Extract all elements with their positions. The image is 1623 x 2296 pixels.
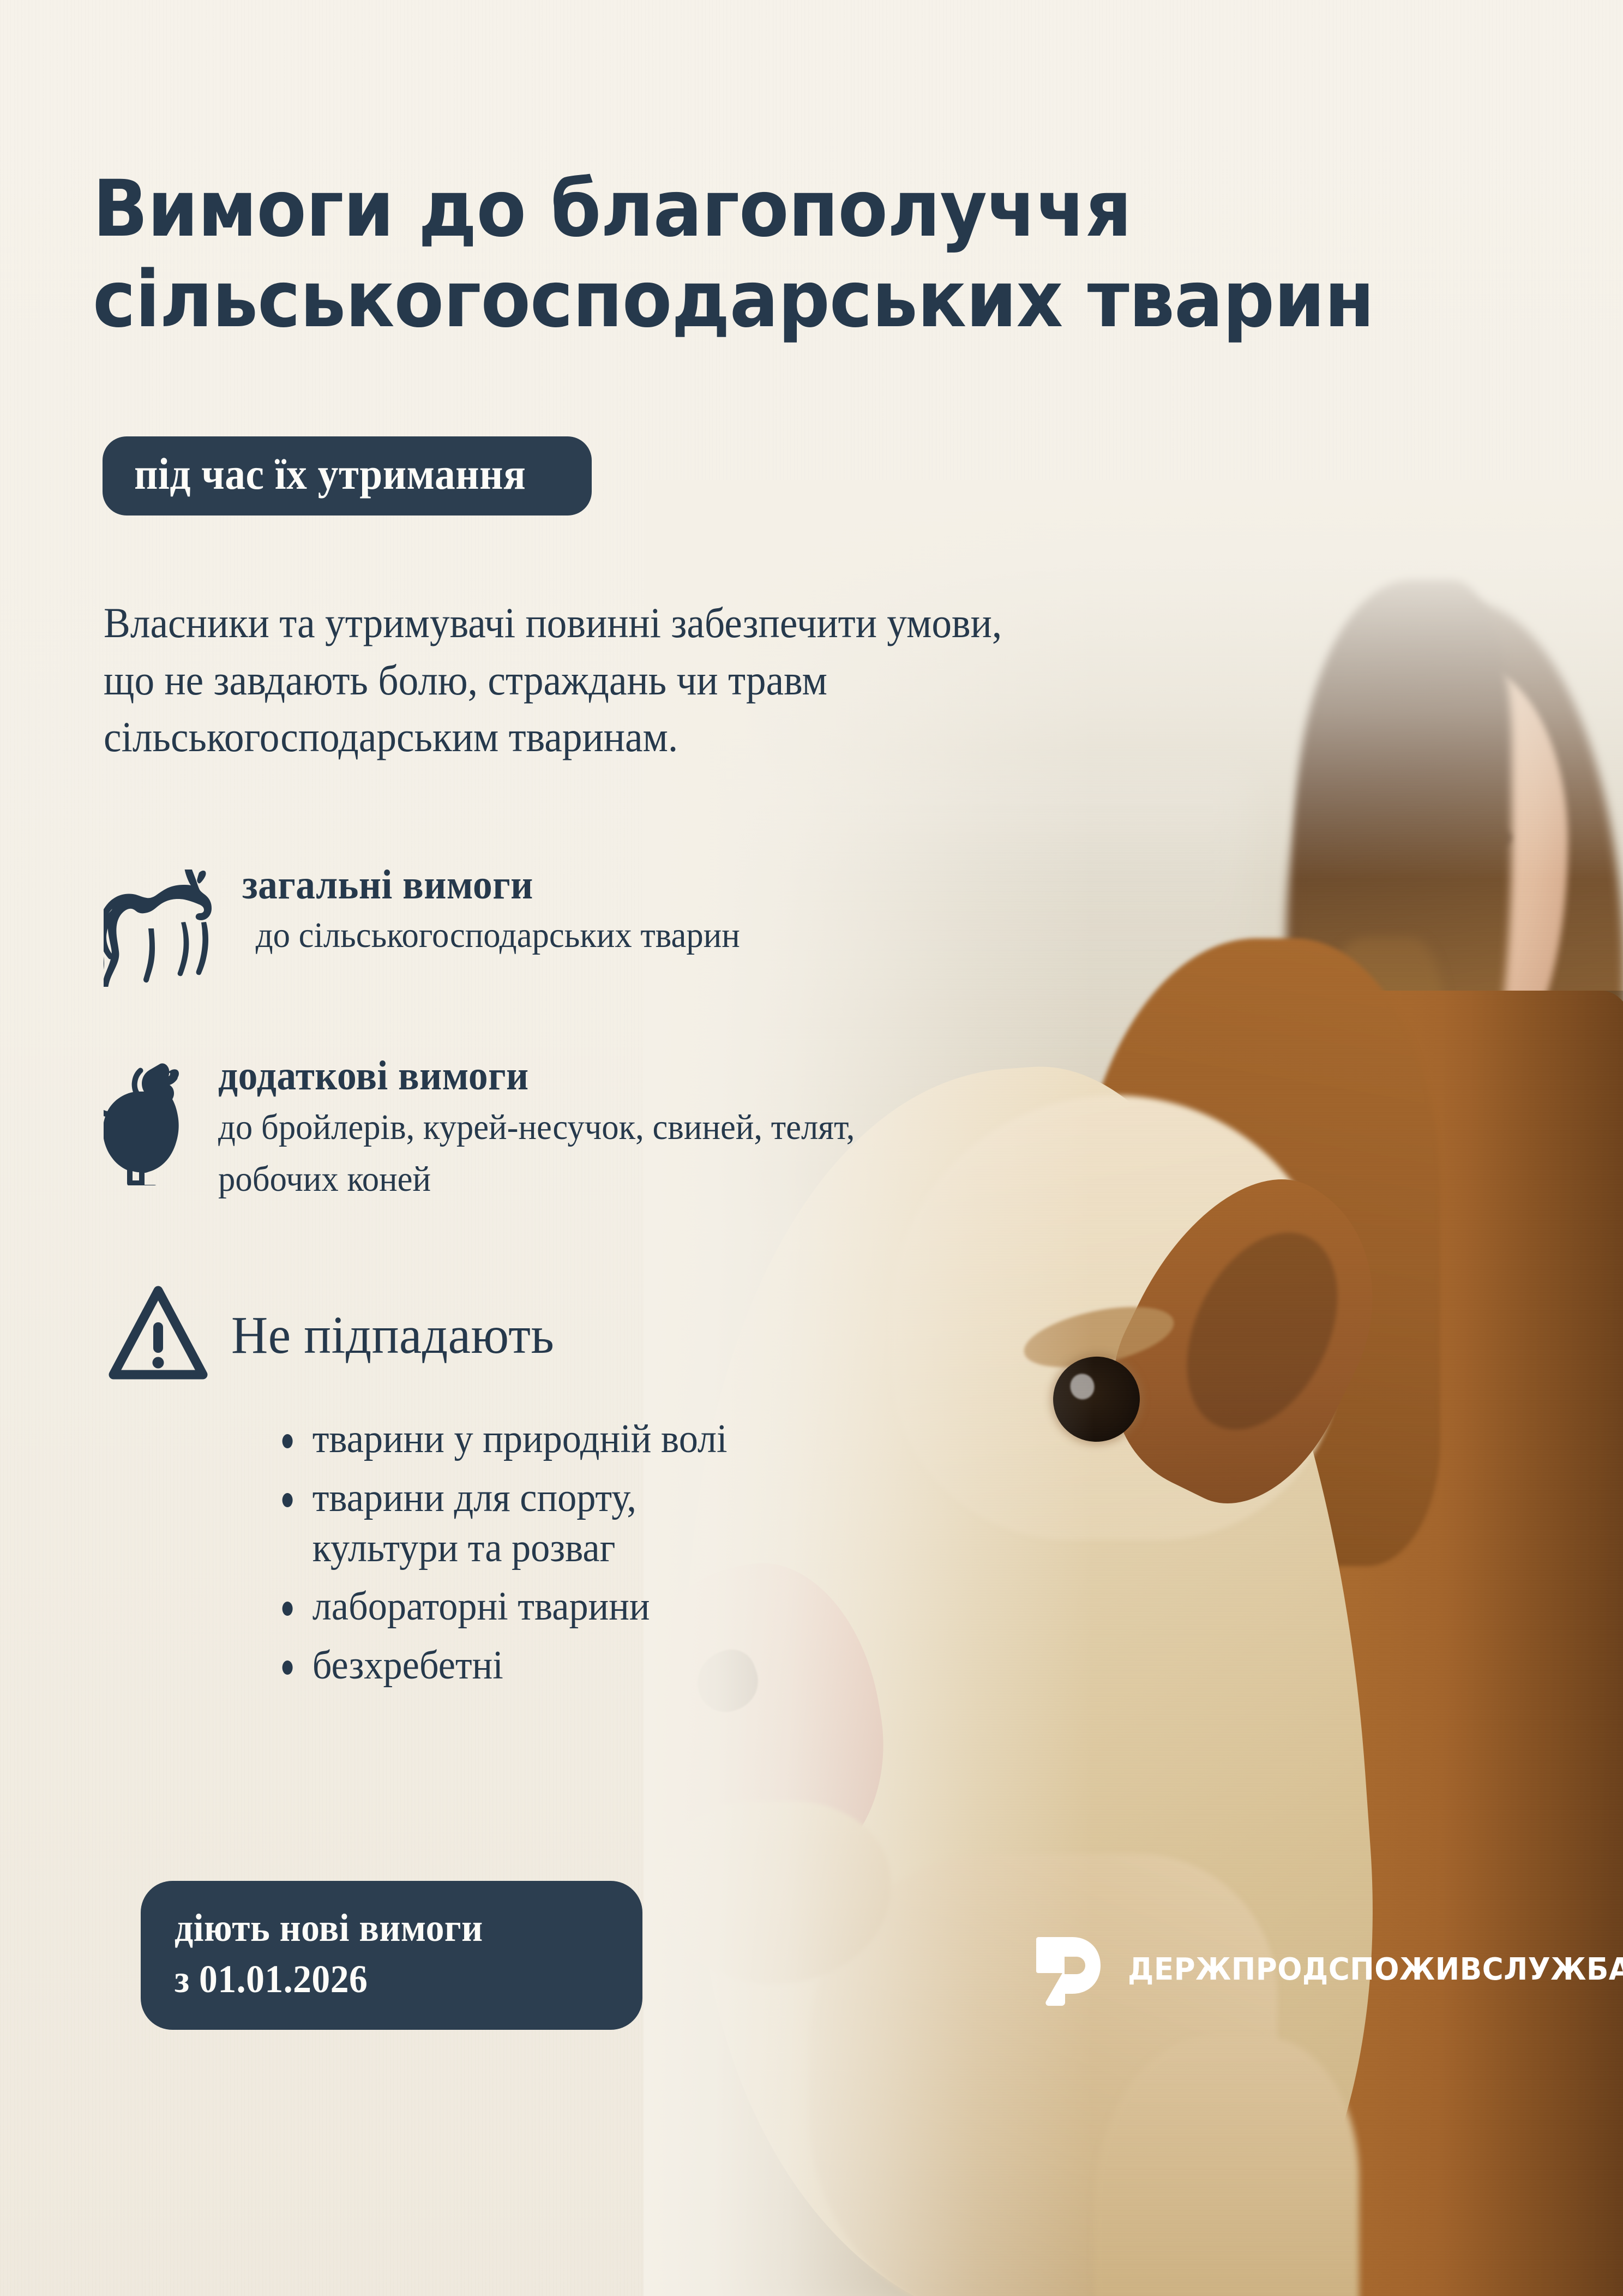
exclusion-item-line-1: лабораторні тварини: [312, 1584, 650, 1629]
brand-lockup: ДЕРЖПРОДСПОЖИВСЛУЖБА: [1036, 1934, 1623, 2006]
page-title: Вимоги до благополуччя сільськогосподарс…: [93, 164, 1432, 345]
chicken-icon: [104, 1057, 196, 1188]
subtitle-badge: під час їх утримання: [103, 436, 592, 515]
requirement-extra-heading: додаткові вимоги: [218, 1053, 848, 1099]
exclusion-item-line-1: тварини у природній волі: [312, 1417, 728, 1461]
intro-line-2: що не завдають болю, страждань чи травм: [104, 652, 1447, 709]
effective-date-badge: діють нові вимоги з 01.01.2026: [141, 1881, 642, 2030]
effective-date-line-2: з 01.01.2026: [175, 1954, 582, 2005]
requirement-general-subtext: до сільськогосподарських тварин: [242, 913, 740, 958]
exclusion-item-line-2: культури та розваг: [312, 1524, 728, 1574]
exclusions-heading: Не підпадають: [231, 1309, 554, 1362]
brand-name: ДЕРЖПРОДСПОЖИВСЛУЖБА: [1128, 1955, 1623, 1985]
requirement-general-heading: загальні вимоги: [242, 862, 735, 908]
content-layer: Вимоги до благополуччя сільськогосподарс…: [0, 0, 1623, 2296]
exclusion-item-line-1: тварини для спорту,: [312, 1476, 636, 1520]
exclusions-section: Не підпадають тварини у природній волі т…: [104, 1282, 751, 1700]
exclusions-header: Не підпадають: [104, 1282, 751, 1388]
requirement-extra-text: додаткові вимоги до бройлерів, курей-нес…: [218, 1053, 888, 1202]
list-item: тварини у природній волі: [278, 1414, 728, 1465]
list-item: тварини для спорту, культури та розваг: [278, 1473, 728, 1574]
intro-line-3: сільськогосподарським тваринам.: [104, 709, 1447, 766]
intro-paragraph: Власники та утримувачі повинні забезпечи…: [104, 595, 1447, 766]
headline-line-2: сільськогосподарських тварин: [93, 254, 1432, 345]
exclusions-list: тварини у природній волі тварини для спо…: [278, 1414, 751, 1691]
warning-triangle-icon: [104, 1282, 213, 1388]
effective-date-line-1: діють нові вимоги: [175, 1903, 582, 1954]
headline-line-1: Вимоги до благополуччя: [93, 163, 1131, 254]
requirement-general: загальні вимоги до сільськогосподарських…: [104, 856, 766, 990]
requirement-extra-subtext-line-2: робочих коней: [218, 1156, 855, 1202]
requirement-general-text: загальні вимоги до сільськогосподарських…: [242, 862, 766, 959]
intro-line-1: Власники та утримувачі повинні забезпечи…: [104, 595, 1447, 652]
exclusion-item-line-1: безхребетні: [312, 1643, 503, 1688]
requirement-extra-subtext-line-1: до бройлерів, курей-несучок, свиней, тел…: [218, 1105, 855, 1150]
list-item: лабораторні тварини: [278, 1582, 728, 1632]
subtitle-badge-label: під час їх утримання: [134, 451, 526, 498]
poster-root: Вимоги до благополуччя сільськогосподарс…: [0, 0, 1623, 2296]
derzhprodspozhyvsluzhba-logo-icon: [1036, 1934, 1103, 2006]
list-item: безхребетні: [278, 1641, 728, 1691]
horse-icon: [104, 870, 229, 990]
requirement-extra: додаткові вимоги до бройлерів, курей-нес…: [104, 1053, 888, 1202]
